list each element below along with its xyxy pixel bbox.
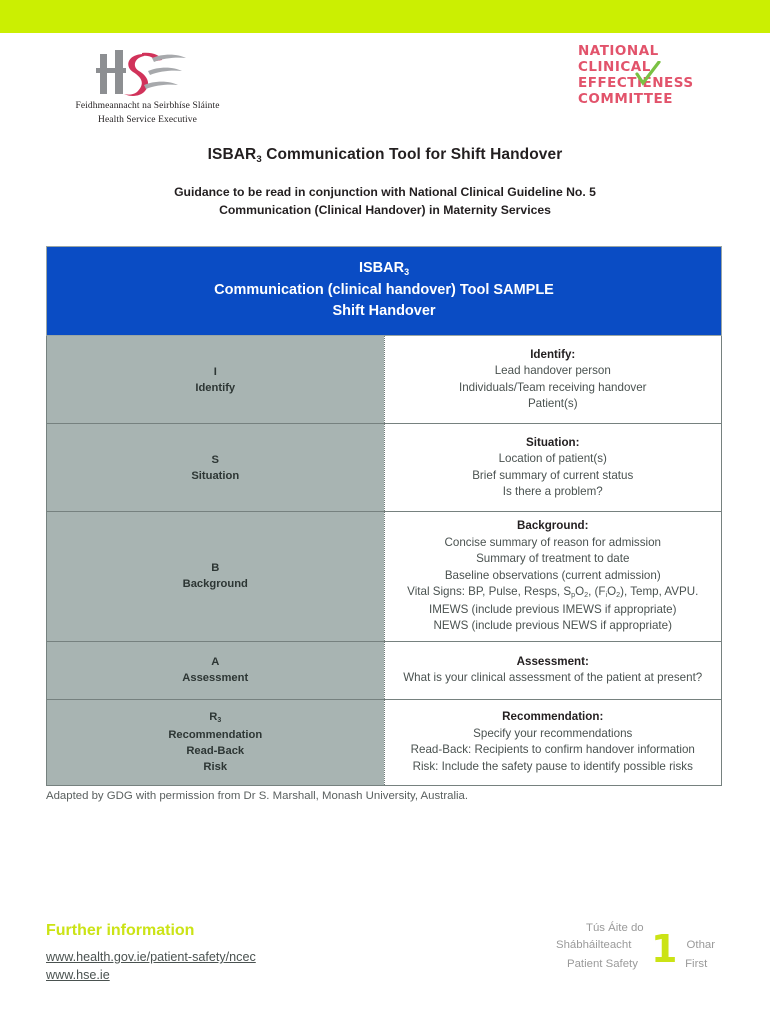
further-information-links: www.health.gov.ie/patient-safety/ncec ww… xyxy=(46,948,256,984)
vitals-part-i: ), Temp, AVPU. xyxy=(620,585,698,598)
attribution-text: Adapted by GDG with permission from Dr S… xyxy=(46,790,746,802)
row-key-recommendation: R3 Recommendation Read-Back Risk xyxy=(47,699,385,785)
row-body-line: Is there a problem? xyxy=(395,484,712,501)
psf-irish-line1: Tús Áite do xyxy=(586,922,644,934)
vitals-part-b: p xyxy=(571,590,575,599)
vitals-part-e: , (F xyxy=(588,585,605,598)
table-row: B Background Background: Concise summary… xyxy=(47,512,722,642)
row-body-heading: Situation: xyxy=(526,436,579,449)
row-body-heading: Background: xyxy=(517,519,589,532)
row-key-letter: B xyxy=(51,560,380,576)
page-subtitle-line2: Communication (Clinical Handover) in Mat… xyxy=(0,201,770,219)
row-body-heading: Recommendation: xyxy=(502,710,603,723)
row-body-line: NEWS (include previous NEWS if appropria… xyxy=(395,618,712,635)
row-body-heading: Identify: xyxy=(530,348,575,361)
row-key-letter-subscript: 3 xyxy=(217,717,221,724)
row-key-letter: S xyxy=(51,452,380,468)
row-body-assessment: Assessment: What is your clinical assess… xyxy=(384,641,722,699)
row-body-line: Lead handover person xyxy=(395,363,712,380)
row-key-letter: R3 xyxy=(51,709,380,727)
page-subtitle: Guidance to be read in conjunction with … xyxy=(0,183,770,219)
link-hse[interactable]: www.hse.ie xyxy=(46,966,256,984)
table-row: A Assessment Assessment: What is your cl… xyxy=(47,641,722,699)
vitals-part-a: Vital Signs: BP, Pulse, Resps, S xyxy=(407,585,571,598)
hse-logo-irish-text: Feidhmeannacht na Seirbhíse Sláinte xyxy=(40,100,255,112)
row-body-line: Brief summary of current status xyxy=(395,468,712,485)
row-key-label: Background xyxy=(51,576,380,592)
page-title: ISBAR3 Communication Tool for Shift Hand… xyxy=(0,146,770,164)
row-key-assessment: A Assessment xyxy=(47,641,385,699)
psf-numeral-one: 1 xyxy=(651,930,677,968)
row-body-identify: Identify: Lead handover person Individua… xyxy=(384,336,722,424)
ncec-line-effectiveness: EFFECTIENESS xyxy=(578,76,694,92)
row-body-line: Baseline observations (current admission… xyxy=(395,568,712,585)
psf-irish-line2-left: Shábháilteacht xyxy=(556,939,631,951)
ncec-logo: NATIONAL CLINICAL EFFECTIENESS COMMITTEE xyxy=(578,44,753,107)
further-information-heading: Further information xyxy=(46,922,194,940)
psf-english-line: Patient Safety First xyxy=(567,958,707,970)
patient-safety-first-logo: Tús Áite do Shábháilteacht Othar Patient… xyxy=(556,922,736,984)
vitals-part-d: 2 xyxy=(584,590,588,599)
table-row: I Identify Identify: Lead handover perso… xyxy=(47,336,722,424)
row-key-label: Risk xyxy=(51,759,380,775)
table-header-isbar: ISBAR xyxy=(359,260,404,276)
row-key-situation: S Situation xyxy=(47,424,385,512)
table-row: R3 Recommendation Read-Back Risk Recomme… xyxy=(47,699,722,785)
row-key-letter: I xyxy=(51,364,380,380)
row-key-letter: A xyxy=(51,654,380,670)
page-header: Feidhmeannacht na Seirbhíse Sláinte Heal… xyxy=(0,33,770,138)
isbar-tool-table: ISBAR3 Communication (clinical handover)… xyxy=(46,246,722,786)
page-title-isbar: ISBAR xyxy=(208,146,257,163)
table-header-subscript: 3 xyxy=(404,267,409,277)
psf-english-right: First xyxy=(685,958,707,970)
top-accent-bar xyxy=(0,0,770,33)
ncec-line-committee: COMMITTEE xyxy=(578,92,753,108)
hse-logo: Feidhmeannacht na Seirbhíse Sláinte Heal… xyxy=(40,50,255,126)
row-body-line: Patient(s) xyxy=(395,396,712,413)
row-body-line: Individuals/Team receiving handover xyxy=(395,380,712,397)
psf-english-left: Patient Safety xyxy=(567,958,638,970)
row-key-label: Assessment xyxy=(51,670,380,686)
row-body-line: Summary of treatment to date xyxy=(395,551,712,568)
ncec-eness-text: ENESS xyxy=(643,75,694,91)
table-header-row: ISBAR3 Communication (clinical handover)… xyxy=(47,247,722,336)
page-title-rest: Communication Tool for Shift Handover xyxy=(262,146,563,163)
row-key-label: Read-Back xyxy=(51,743,380,759)
row-body-line: Specify your recommendations xyxy=(395,726,712,743)
table-header-line3: Shift Handover xyxy=(53,301,715,322)
row-body-line: Location of patient(s) xyxy=(395,451,712,468)
row-body-line: What is your clinical assessment of the … xyxy=(395,670,712,687)
hse-logo-mark xyxy=(40,50,255,98)
row-body-situation: Situation: Location of patient(s) Brief … xyxy=(384,424,722,512)
row-key-label: Situation xyxy=(51,468,380,484)
table-header-line1: ISBAR3 xyxy=(53,258,715,280)
link-ncec[interactable]: www.health.gov.ie/patient-safety/ncec xyxy=(46,948,256,966)
row-body-recommendation: Recommendation: Specify your recommendat… xyxy=(384,699,722,785)
vitals-part-g: O xyxy=(607,585,616,598)
row-body-line-vitals: Vital Signs: BP, Pulse, Resps, SpO2, (Fi… xyxy=(395,584,712,602)
vitals-part-h: 2 xyxy=(616,590,620,599)
row-body-background: Background: Concise summary of reason fo… xyxy=(384,512,722,642)
row-body-line: Read-Back: Recipients to confirm handove… xyxy=(395,742,712,759)
row-body-line: Concise summary of reason for admission xyxy=(395,535,712,552)
document-page: Feidhmeannacht na Seirbhíse Sláinte Heal… xyxy=(0,0,770,1024)
table-row: S Situation Situation: Location of patie… xyxy=(47,424,722,512)
ncec-line-national: NATIONAL xyxy=(578,44,753,60)
psf-irish-line2: Shábháilteacht Othar xyxy=(556,939,715,951)
row-key-background: B Background xyxy=(47,512,385,642)
row-body-line: IMEWS (include previous IMEWS if appropr… xyxy=(395,602,712,619)
table-header-line2: Communication (clinical handover) Tool S… xyxy=(53,280,715,301)
page-title-subscript: 3 xyxy=(256,154,261,165)
row-body-line: Risk: Include the safety pause to identi… xyxy=(395,759,712,776)
vitals-part-f: i xyxy=(606,590,608,599)
hse-logo-english-text: Health Service Executive xyxy=(40,114,255,126)
row-key-label: Recommendation xyxy=(51,727,380,743)
row-body-heading: Assessment: xyxy=(517,655,589,668)
row-key-identify: I Identify xyxy=(47,336,385,424)
page-subtitle-line1: Guidance to be read in conjunction with … xyxy=(0,183,770,201)
psf-irish-line2-right: Othar xyxy=(687,939,716,951)
table-header-cell: ISBAR3 Communication (clinical handover)… xyxy=(47,247,722,336)
ncec-line-clinical: CLINICAL xyxy=(578,60,753,76)
ncec-effecti-text: EFFECTI xyxy=(578,75,643,91)
vitals-part-c: O xyxy=(575,585,584,598)
row-key-label: Identify xyxy=(51,380,380,396)
